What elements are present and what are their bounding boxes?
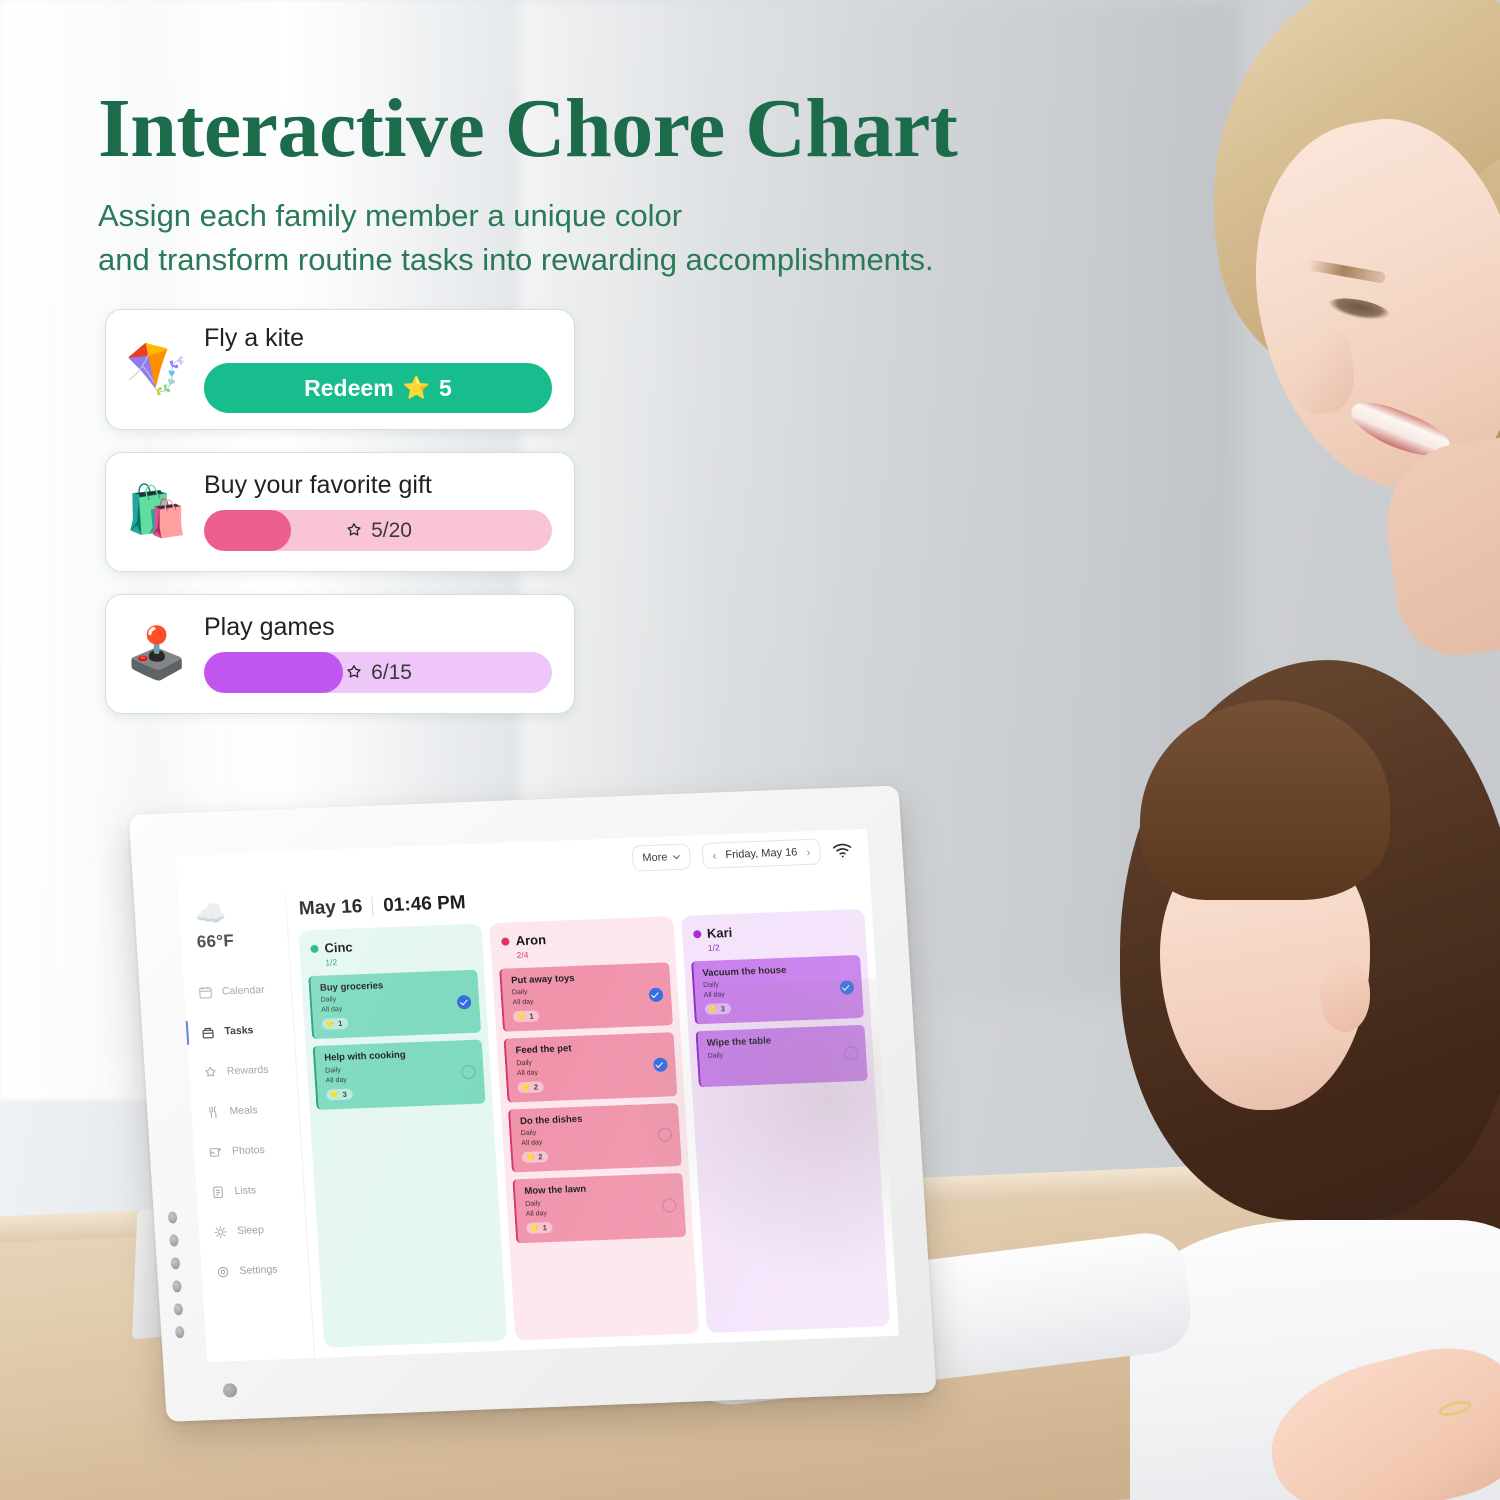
redeem-star-cost: 5 <box>439 375 452 402</box>
member-name: Aron <box>515 932 546 948</box>
task-card[interactable]: Feed the petDailyAll day⭐2 <box>504 1033 677 1103</box>
joystick-emoji-icon: 🕹️ <box>124 628 190 678</box>
sidebar-item-photos[interactable]: Photos <box>193 1129 302 1173</box>
reward-progress-value: 5/20 <box>371 519 412 543</box>
star-icon: ⭐ <box>707 1005 718 1014</box>
sidebar-item-label: Calendar <box>222 984 265 998</box>
member-color-dot <box>693 930 701 938</box>
reward-card-title: Fly a kite <box>204 324 552 353</box>
star-icon: ⭐ <box>521 1082 532 1091</box>
list-icon <box>210 1184 226 1200</box>
member-column-cinc: Cinc1/2Buy groceriesDailyAll day⭐1Help w… <box>298 924 507 1348</box>
calendar-icon <box>198 984 214 1000</box>
task-star-badge: ⭐3 <box>326 1088 353 1100</box>
task-schedule: All day <box>321 1001 472 1014</box>
page-title: Interactive Chore Chart <box>98 86 1128 172</box>
tablet-screen: More ‹ Friday, May 16 › <box>175 829 899 1363</box>
sidebar-item-calendar[interactable]: Calendar <box>183 969 292 1013</box>
board-date: May 16 <box>298 896 363 920</box>
star-icon: ⭐ <box>516 1012 527 1021</box>
photos-icon <box>208 1144 224 1160</box>
subtitle-line-2: and transform routine tasks into rewardi… <box>98 238 1128 282</box>
task-star-badge: ⭐3 <box>704 1003 731 1015</box>
gear-icon <box>215 1264 231 1280</box>
headline-block: Interactive Chore Chart Assign each fami… <box>98 86 1128 282</box>
task-star-badge: ⭐1 <box>526 1221 553 1233</box>
task-star-badge: ⭐2 <box>522 1151 549 1163</box>
redeem-button[interactable]: Redeem ⭐ 5 <box>204 363 552 413</box>
cloud-icon: ☁️ <box>194 899 287 927</box>
wifi-icon[interactable] <box>832 842 853 859</box>
task-star-count: 1 <box>338 1019 343 1028</box>
reward-progress-bar[interactable]: 5/20 <box>204 510 552 551</box>
task-card[interactable]: Vacuum the houseDailyAll day⭐3 <box>691 955 864 1025</box>
task-star-count: 1 <box>542 1223 547 1232</box>
sidebar-item-label: Photos <box>232 1144 265 1157</box>
sidebar-item-sleep[interactable]: Sleep <box>198 1208 307 1252</box>
chore-chart-app: More ‹ Friday, May 16 › <box>175 829 899 1363</box>
task-schedule: All day <box>521 1134 672 1147</box>
task-checkbox[interactable] <box>844 1047 859 1062</box>
reward-card-fly-a-kite[interactable]: 🪁 Fly a kite Redeem ⭐ 5 <box>105 309 575 430</box>
star-outline-icon <box>203 1064 219 1080</box>
star-outline-icon <box>344 521 364 540</box>
sidebar-item-rewards[interactable]: Rewards <box>188 1049 297 1093</box>
tasks-icon <box>200 1024 216 1040</box>
member-task-list: Buy groceriesDailyAll day⭐1Help with coo… <box>308 970 486 1110</box>
task-card[interactable]: Wipe the tableDaily <box>695 1025 868 1087</box>
member-task-list: Vacuum the houseDailyAll day⭐3Wipe the t… <box>691 955 868 1088</box>
task-star-count: 3 <box>342 1090 347 1099</box>
speaker-holes <box>168 1211 185 1338</box>
sidebar-nav: Calendar Tasks <box>183 969 310 1292</box>
task-schedule: All day <box>526 1205 677 1218</box>
member-columns: Cinc1/2Buy groceriesDailyAll day⭐1Help w… <box>298 909 890 1348</box>
shopping-bags-emoji-icon: 🛍️ <box>124 486 190 536</box>
reward-card-body: Fly a kite Redeem ⭐ 5 <box>204 324 552 413</box>
reward-card-buy-your-favorite-gift[interactable]: 🛍️ Buy your favorite gift 5/20 <box>105 452 575 572</box>
task-schedule: All day <box>512 994 663 1007</box>
member-name: Kari <box>706 925 732 941</box>
weather-temperature: 66°F <box>196 929 288 952</box>
app-main: ☁️ 66°F Calendar <box>178 871 899 1363</box>
sidebar-item-label: Settings <box>239 1264 278 1277</box>
sidebar-item-lists[interactable]: Lists <box>195 1169 304 1213</box>
star-icon: ⭐ <box>403 375 430 401</box>
girl-bangs <box>1140 700 1390 900</box>
reward-progress-fill <box>204 510 291 551</box>
camera-dot <box>223 1383 238 1398</box>
reward-card-title: Buy your favorite gift <box>204 471 552 500</box>
more-button[interactable]: More <box>632 843 692 871</box>
reward-card-body: Buy your favorite gift 5/20 <box>204 471 552 551</box>
star-icon: ⭐ <box>529 1223 540 1232</box>
sidebar-item-label: Tasks <box>224 1024 254 1037</box>
member-name: Cinc <box>324 939 353 955</box>
reward-card-title: Play games <box>204 613 552 642</box>
star-icon: ⭐ <box>329 1090 340 1099</box>
chevron-down-icon <box>672 851 681 863</box>
task-card[interactable]: Mow the lawnDailyAll day⭐1 <box>513 1173 686 1243</box>
sidebar-item-meals[interactable]: Meals <box>190 1089 299 1133</box>
reward-progress-label-wrap: 6/15 <box>344 661 412 685</box>
girl-photo <box>1000 660 1500 1500</box>
task-star-count: 2 <box>534 1082 539 1091</box>
prev-day-icon[interactable]: ‹ <box>712 848 717 862</box>
reward-card-body: Play games 6/15 <box>204 613 552 693</box>
sun-icon <box>213 1224 229 1240</box>
task-star-badge: ⭐1 <box>322 1018 349 1030</box>
sidebar-item-tasks[interactable]: Tasks <box>185 1009 294 1053</box>
sidebar-item-label: Lists <box>234 1184 256 1197</box>
reward-progress-value: 6/15 <box>371 661 412 685</box>
board-divider <box>372 897 374 917</box>
girl-ear <box>1320 960 1370 1032</box>
redeem-button-label: Redeem <box>304 375 393 402</box>
star-icon: ⭐ <box>525 1153 536 1162</box>
cutlery-icon <box>205 1104 221 1120</box>
date-navigator[interactable]: ‹ Friday, May 16 › <box>702 838 822 868</box>
task-card[interactable]: Do the dishesDailyAll day⭐2 <box>508 1103 681 1173</box>
task-star-count: 1 <box>529 1012 534 1021</box>
task-card[interactable]: Buy groceriesDailyAll day⭐1 <box>308 970 481 1040</box>
member-column-aron: Aron2/4Put away toysDailyAll day⭐1Feed t… <box>490 916 699 1340</box>
next-day-icon[interactable]: › <box>806 845 811 859</box>
more-button-label: More <box>642 851 668 864</box>
member-color-dot <box>310 944 318 952</box>
weather-widget: ☁️ 66°F <box>178 897 289 965</box>
task-repeat: Daily <box>707 1047 858 1060</box>
board-time: 01:46 PM <box>383 892 467 917</box>
task-star-count: 2 <box>538 1152 543 1161</box>
reward-progress-fill <box>204 652 343 693</box>
tablet-bezel: More ‹ Friday, May 16 › <box>129 785 937 1421</box>
member-task-list: Put away toysDailyAll day⭐1Feed the petD… <box>499 962 685 1243</box>
reward-card-list: 🪁 Fly a kite Redeem ⭐ 5 🛍️ Buy your favo… <box>105 309 575 736</box>
star-outline-icon <box>344 663 364 682</box>
current-date-label: Friday, May 16 <box>725 846 798 861</box>
reward-progress-bar[interactable]: 6/15 <box>204 652 552 693</box>
task-star-badge: ⭐2 <box>518 1081 545 1093</box>
sidebar-item-label: Sleep <box>237 1224 265 1237</box>
task-card[interactable]: Help with cookingDailyAll day⭐3 <box>313 1040 486 1110</box>
task-card[interactable]: Put away toysDailyAll day⭐1 <box>499 962 672 1032</box>
woman-photo <box>1180 0 1500 610</box>
task-star-badge: ⭐1 <box>513 1011 540 1023</box>
task-star-count: 3 <box>720 1005 725 1014</box>
member-column-kari: Kari1/2Vacuum the houseDailyAll day⭐3Wip… <box>681 909 890 1333</box>
page-subtitle: Assign each family member a unique color… <box>98 194 1128 282</box>
member-color-dot <box>501 937 509 945</box>
sidebar-item-settings[interactable]: Settings <box>200 1248 309 1292</box>
star-icon: ⭐ <box>325 1020 336 1029</box>
subtitle-line-1: Assign each family member a unique color <box>98 194 1128 238</box>
task-schedule: All day <box>326 1072 477 1085</box>
task-schedule: All day <box>517 1064 668 1077</box>
sidebar-item-label: Meals <box>229 1104 258 1117</box>
kite-emoji-icon: 🪁 <box>124 344 190 394</box>
tablet-device: More ‹ Friday, May 16 › <box>98 775 948 1445</box>
sidebar-item-label: Rewards <box>227 1064 269 1078</box>
reward-card-play-games[interactable]: 🕹️ Play games 6/15 <box>105 594 575 714</box>
reward-progress-label-wrap: 5/20 <box>344 519 412 543</box>
task-board: May 16 01:46 PM Cinc1/2Buy groceriesDail… <box>286 871 899 1359</box>
